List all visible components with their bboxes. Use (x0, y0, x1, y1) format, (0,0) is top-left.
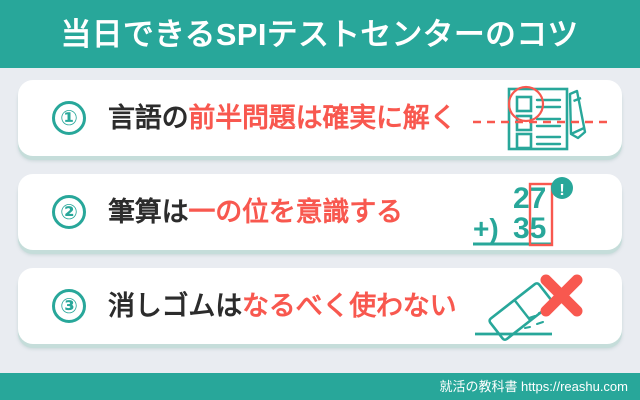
tip-text-1: 言語の前半問題は確実に解く (108, 105, 456, 132)
tip-text-normal-1: 言語の (108, 103, 188, 133)
math-operator: +) (473, 213, 499, 244)
tip-text-normal-3: 消しゴムは (108, 291, 242, 321)
tips-list: ① 言語の前半問題は確実に解く (18, 80, 622, 362)
tip-text-3: 消しゴムはなるべく使わない (108, 293, 456, 320)
alert-badge-mark: ! (559, 182, 564, 199)
tip-number-badge-2: ② (52, 195, 86, 229)
tip-text-highlight-2: 一の位を意識する (188, 197, 402, 227)
tip-text-highlight-1: 前半問題は確実に解く (188, 103, 456, 133)
tip-text-2: 筆算は一の位を意識する (108, 199, 403, 226)
eraser-cross-icon (462, 268, 622, 344)
tip-card-3[interactable]: ③ 消しゴムはなるべく使わない (18, 268, 622, 344)
page-footer: 就活の教科書 https://reashu.com (0, 373, 640, 400)
tip-number-badge-1: ① (52, 101, 86, 135)
tip-text-normal-2: 筆算は (108, 197, 188, 227)
tip-number-badge-3: ③ (52, 289, 86, 323)
checklist-pencil-icon (462, 80, 622, 156)
page-header: 当日できるSPIテストセンターのコツ (0, 0, 640, 68)
tip-card-2[interactable]: ② 筆算は一の位を意識する 27 +) 35 ! (18, 174, 622, 250)
tip-card-1[interactable]: ① 言語の前半問題は確実に解く (18, 80, 622, 156)
tip-text-highlight-3: なるべく使わない (242, 291, 456, 321)
footer-credit: 就活の教科書 https://reashu.com (439, 380, 628, 393)
page-title: 当日できるSPIテストセンターのコツ (61, 19, 579, 50)
vertical-addition-icon: 27 +) 35 ! (462, 174, 622, 250)
